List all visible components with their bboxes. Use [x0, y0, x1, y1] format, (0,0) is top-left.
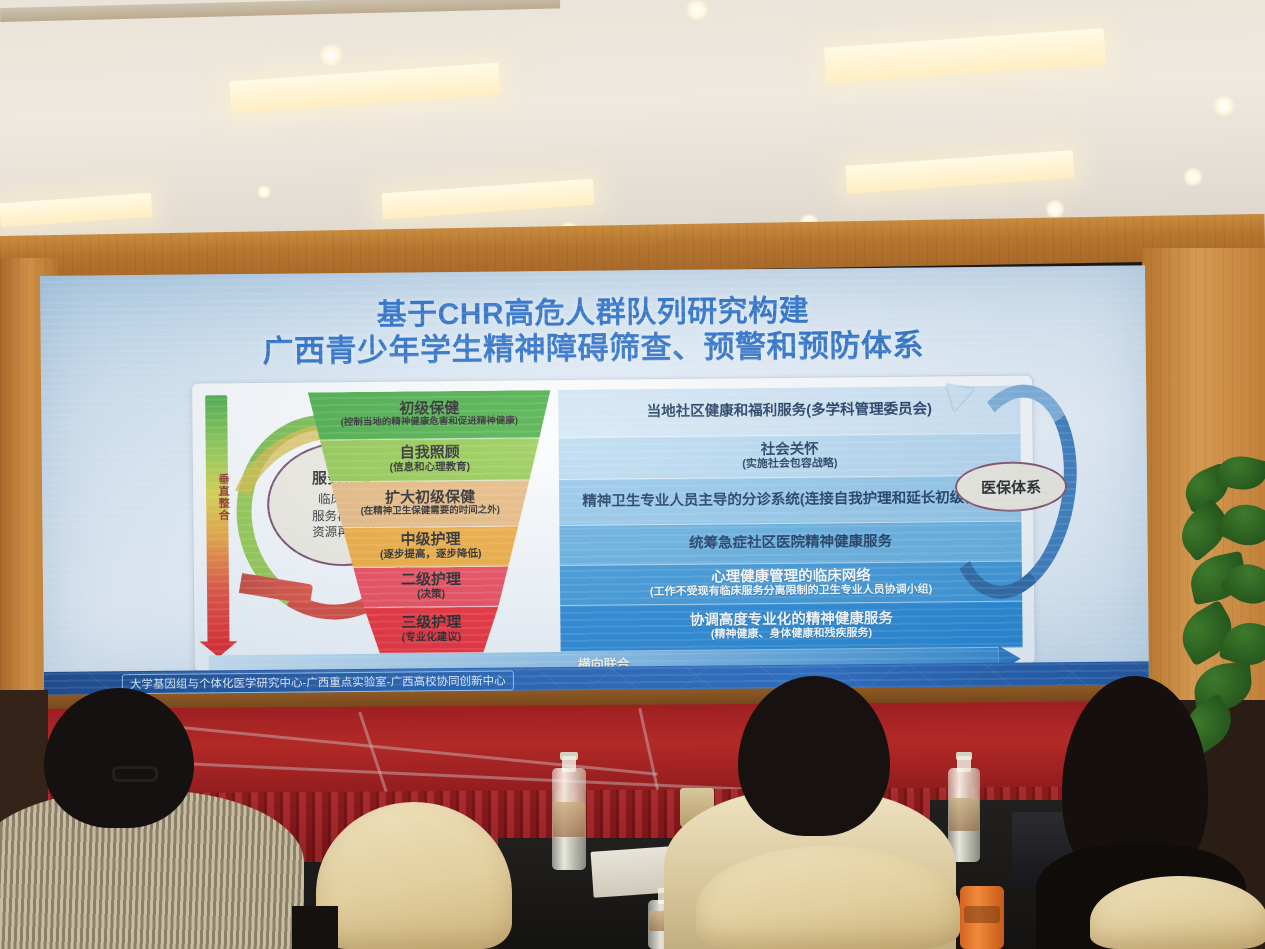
slide-title-line1: 基于CHR高危人群队列研究构建 — [376, 295, 809, 332]
water-bottle — [552, 752, 586, 870]
vertical-integration-label: 垂直整合 — [206, 473, 228, 521]
plant-leaf — [1215, 495, 1265, 555]
pyramid-level: 中级护理 (逐步提高，逐步降低) — [301, 526, 559, 568]
service-level-sub: (实施社会包容战略) — [742, 458, 837, 472]
eyeglasses-icon — [112, 766, 158, 782]
diagram-card: 垂直整合 服务移交 临床讨论 服务再设计 资源再分配 初级保健 (控制当地的精神… — [191, 374, 1036, 672]
service-level-title: 社会关怀 — [742, 441, 837, 458]
service-level: 心理健康管理的临床网络 (工作不受现有临床服务分离限制的卫生专业人员协调小组) — [560, 562, 1022, 606]
pyramid-level: 三级护理 (专业化建议) — [302, 606, 560, 654]
water-bottle — [948, 752, 980, 862]
pyramid-level: 二级护理 (决策) — [302, 566, 560, 608]
pyramid-level-sub: (在精神卫生保健需要的时间之外) — [361, 506, 500, 518]
pyramid-level-sub: (逐步提高，逐步降低) — [380, 549, 482, 562]
pyramid-level-sub: (控制当地的精神健康危害和促进精神健康) — [341, 417, 518, 430]
ceiling-panel-light — [845, 150, 1074, 194]
ceiling-spot-light — [256, 186, 272, 198]
pyramid-level-title: 二级护理 — [401, 572, 461, 589]
potted-plant — [1178, 452, 1265, 752]
conference-room-scene: 基于CHR高危人群队列研究构建 广西青少年学生精神障碍筛查、预警和预防体系 垂直… — [0, 0, 1265, 949]
ceiling-panel-light — [0, 193, 153, 228]
pyramid-level-sub: (信息和心理教育) — [390, 462, 471, 475]
ceiling-spot-light — [318, 44, 344, 66]
floor-marking — [358, 712, 408, 804]
orange-thermos — [960, 886, 1004, 949]
ceiling-panel-light — [381, 179, 594, 220]
pyramid-level: 自我照顾 (信息和心理教育) — [301, 438, 559, 482]
service-level: 协调高度专业化的精神健康服务 (精神健康、身体健康和残疾服务) — [560, 602, 1022, 652]
service-level-title: 统筹急症社区医院精神健康服务 — [689, 534, 892, 552]
slide-title-line2: 广西青少年学生精神障碍筛查、预警和预防体系 — [41, 326, 1146, 372]
ceiling-panel-light — [824, 28, 1106, 83]
service-level-sub: (精神健康、身体健康和残疾服务) — [690, 627, 893, 642]
pyramid-level-title: 三级护理 — [401, 615, 461, 632]
service-level-sub: (工作不受现有临床服务分离限制的卫生专业人员协调小组) — [650, 584, 932, 599]
service-level-title: 精神卫生专业人员主导的分诊系统(连接自我护理和延长初级保健) — [582, 490, 998, 510]
ceiling-seam — [0, 0, 560, 22]
ceiling-panel-light — [229, 63, 501, 114]
care-pyramid: 初级保健 (控制当地的精神健康危害和促进精神健康) 自我照顾 (信息和心理教育)… — [300, 390, 560, 646]
ceiling-spot-light — [1044, 200, 1066, 218]
pyramid-level-title: 自我照顾 — [389, 445, 470, 462]
service-level-title: 当地社区健康和福利服务(多学科管理委员会) — [647, 402, 932, 421]
ceiling-spot-light — [1182, 168, 1204, 186]
pyramid-level: 扩大初级保健 (在精神卫生保健需要的时间之外) — [301, 480, 559, 528]
slide-title: 基于CHR高危人群队列研究构建 广西青少年学生精神障碍筛查、预警和预防体系 — [40, 291, 1146, 371]
pyramid-level: 初级保健 (控制当地的精神健康危害和促进精神健康) — [300, 390, 558, 440]
pyramid-level-sub: (决策) — [401, 589, 461, 601]
pyramid-level-sub: (专业化建议) — [401, 632, 461, 644]
ceiling-spot-light — [1212, 96, 1236, 116]
chair-leg — [292, 906, 338, 949]
projection-screen: 基于CHR高危人群队列研究构建 广西青少年学生精神障碍筛查、预警和预防体系 垂直… — [40, 265, 1149, 696]
ceiling-spot-light — [684, 0, 710, 20]
